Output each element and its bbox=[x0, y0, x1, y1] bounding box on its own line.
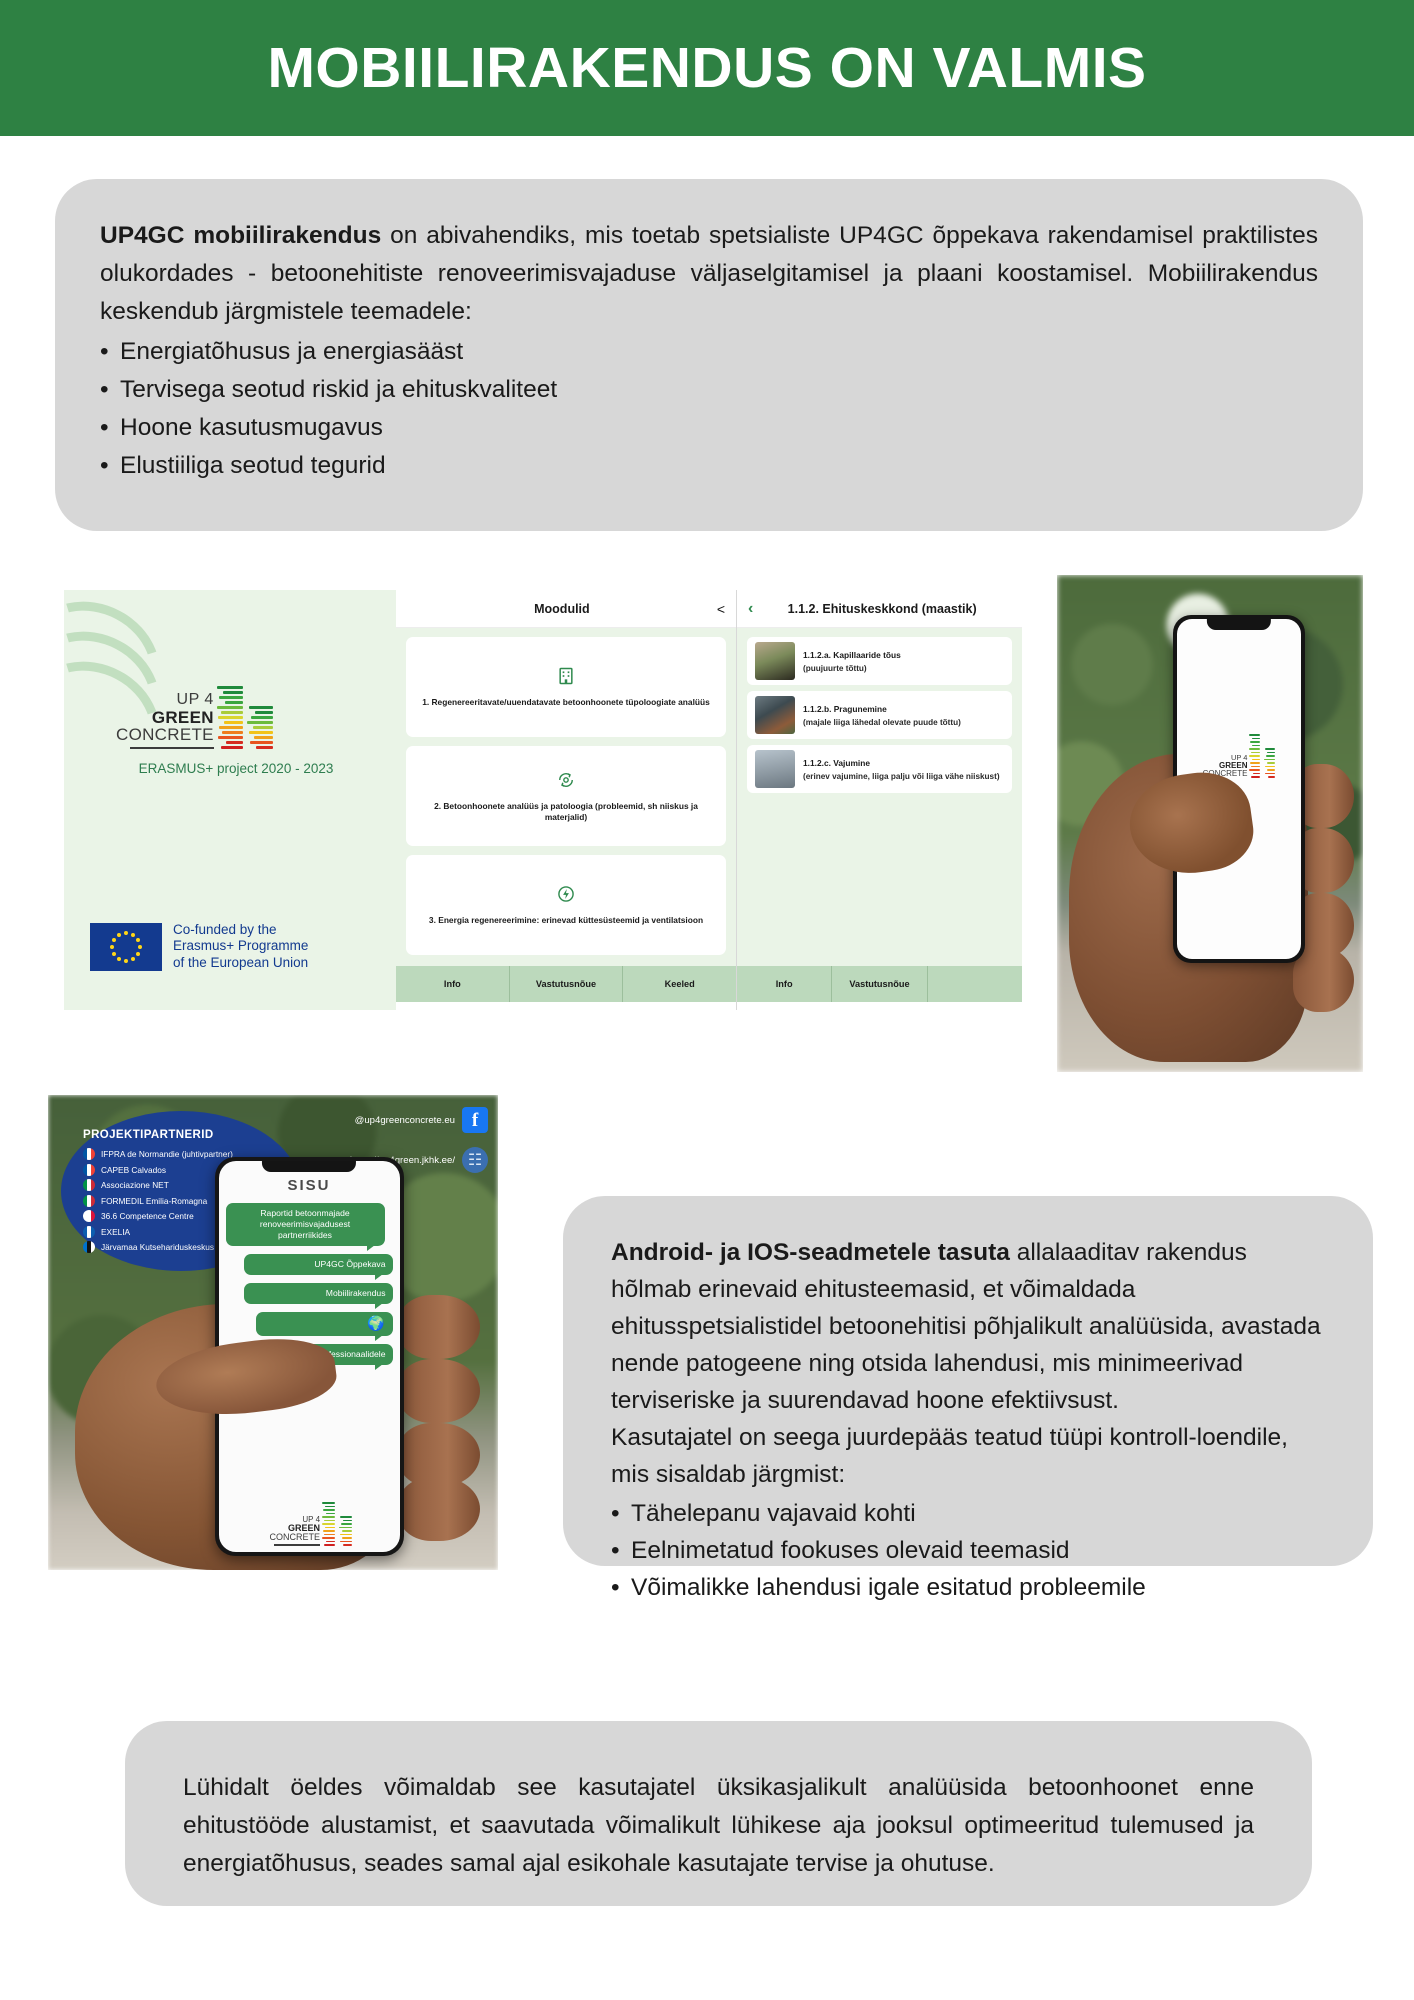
partners-title: PROJEKTIPARTNERID bbox=[83, 1129, 287, 1141]
intro-lead: UP4GC mobiilirakendus bbox=[100, 222, 381, 249]
eu-text-line-1: Co-funded by the bbox=[173, 922, 308, 938]
summary-text: Lühidalt öeldes võimaldab see kasutajate… bbox=[183, 1769, 1254, 1883]
item-title: 1.1.2.c. Vajumine bbox=[803, 758, 1000, 768]
item-thumbnail bbox=[755, 642, 795, 680]
up4gc-logo-small: UP 4 GREEN CONCRETE bbox=[1187, 734, 1291, 778]
app-detail-header: ‹ 1.1.2. Ehituskeskkond (maastik) bbox=[737, 590, 1022, 628]
item-subtitle: (erinev vajumine, liiga palju või liiga … bbox=[803, 772, 1000, 781]
app-modules-title: Moodulid bbox=[407, 602, 717, 616]
nav-item-info[interactable]: Info bbox=[737, 966, 832, 1002]
list-item: Elustiiliga seotud tegurid bbox=[100, 447, 1318, 485]
recycle-gear-icon bbox=[556, 770, 576, 795]
sisu-title: SISU bbox=[226, 1177, 393, 1194]
logo-pane: UP 4 GREEN CONCRETE ERASMUS+ project 202… bbox=[64, 590, 396, 1010]
facebook-icon[interactable]: f bbox=[462, 1107, 488, 1133]
country-flag-icon bbox=[83, 1148, 95, 1160]
country-flag-icon bbox=[83, 1241, 95, 1253]
menu-item-reports[interactable]: Raportid betoonmajade renoveerimisvajadu… bbox=[226, 1203, 385, 1246]
building-icon bbox=[556, 666, 576, 691]
logo-bars-icon bbox=[217, 686, 273, 749]
partner-name: IFPRA de Normandie (juhtivpartner) bbox=[101, 1149, 233, 1159]
app-bottom-nav: Info Vastutusnõue Keeled bbox=[396, 966, 736, 1002]
android-bullet-list: Tähelepanu vajavaid kohti Eelnimetatud f… bbox=[611, 1495, 1325, 1606]
globe-icon[interactable]: ☷ bbox=[462, 1147, 488, 1173]
nav-item-disclaimer[interactable]: Vastutusnõue bbox=[510, 966, 624, 1002]
poster-page: MOBIILIRAKENDUS ON VALMIS UP4GC mobiilir… bbox=[0, 0, 1414, 2000]
partner-name: Associazione NET bbox=[101, 1180, 169, 1190]
module-label: 2. Betoonhoonete analüüs ja patoloogia (… bbox=[416, 801, 716, 822]
item-title: 1.1.2.a. Kapillaaride tõus bbox=[803, 650, 901, 660]
module-card[interactable]: 3. Energia regenereerimine: erinevad küt… bbox=[406, 855, 726, 955]
country-flag-icon bbox=[83, 1164, 95, 1176]
logo-line-3: CONCRETE bbox=[116, 726, 214, 744]
logo-bar-column bbox=[1249, 734, 1260, 778]
phone-notch bbox=[262, 1161, 356, 1172]
intro-panel: UP4GC mobiilirakendus on abivahendiks, m… bbox=[55, 179, 1363, 531]
list-item: Eelnimetatud fookuses olevaid teemasid bbox=[611, 1532, 1325, 1569]
logo-bar-column bbox=[217, 686, 243, 749]
country-flag-icon bbox=[83, 1210, 95, 1222]
menu-item-mobile-app[interactable]: Mobiilirakendus bbox=[244, 1283, 393, 1304]
menu-item-earth-icon[interactable]: 🌍 bbox=[256, 1312, 393, 1336]
partner-name: 36.6 Competence Centre bbox=[101, 1211, 194, 1221]
country-flag-icon bbox=[83, 1195, 95, 1207]
logo-bar-column bbox=[247, 706, 273, 749]
hand-holding-phone-photo: UP 4 GREEN CONCRETE bbox=[1057, 575, 1363, 1072]
social-handle: @up4greenconcrete.eu bbox=[355, 1115, 455, 1126]
eu-funding-text: Co-funded by the Erasmus+ Programme of t… bbox=[173, 922, 308, 971]
android-info-panel: Android- ja IOS-seadmetele tasuta allala… bbox=[563, 1196, 1373, 1566]
share-icon[interactable]: < bbox=[717, 602, 725, 616]
item-subtitle: (majale liiga lähedal olevate puude tõtt… bbox=[803, 718, 961, 727]
module-card[interactable]: 1. Regenereeritavate/uuendatavate betoon… bbox=[406, 637, 726, 737]
eu-text-line-3: of the European Union bbox=[173, 955, 308, 971]
country-flag-icon bbox=[83, 1226, 95, 1238]
app-modules-body: 1. Regenereeritavate/uuendatavate betoon… bbox=[396, 628, 736, 966]
module-label: 1. Regenereeritavate/uuendatavate betoon… bbox=[422, 697, 710, 708]
list-item: Hoone kasutusmugavus bbox=[100, 409, 1318, 447]
partner-name: FORMEDIL Emilia-Romagna bbox=[101, 1196, 207, 1206]
app-modules-screen: Moodulid < 1. Regener bbox=[396, 590, 736, 1010]
intro-paragraph: UP4GC mobiilirakendus on abivahendiks, m… bbox=[100, 217, 1318, 331]
module-label: 3. Energia regenereerimine: erinevad küt… bbox=[429, 915, 703, 926]
logo-bar-column bbox=[1264, 748, 1275, 778]
partner-name: Järvamaa Kutsehariduskeskus bbox=[101, 1242, 214, 1252]
list-item: Energiatõhusus ja energiasääst bbox=[100, 333, 1318, 371]
app-screenshot-strip: UP 4 GREEN CONCRETE ERASMUS+ project 202… bbox=[64, 590, 1022, 1010]
nav-item-disclaimer[interactable]: Vastutusnõue bbox=[832, 966, 927, 1002]
up4gc-logo-small: UP 4 GREEN CONCRETE bbox=[233, 1502, 389, 1546]
app-modules-header: Moodulid < bbox=[396, 590, 736, 628]
android-paragraph-2: Kasutajatel on seega juurdepääs teatud t… bbox=[611, 1419, 1325, 1493]
list-item[interactable]: 1.1.2.a. Kapillaaride tõus (puujuurte tõ… bbox=[747, 637, 1012, 685]
android-lead: Android- ja IOS-seadmetele tasuta bbox=[611, 1239, 1010, 1266]
list-item[interactable]: 1.1.2.c. Vajumine (erinev vajumine, liig… bbox=[747, 745, 1012, 793]
item-subtitle: (puujuurte tõttu) bbox=[803, 664, 901, 673]
item-thumbnail bbox=[755, 696, 795, 734]
fingers-group bbox=[399, 1295, 480, 1542]
list-item: Võimalikke lahendusi igale esitatud prob… bbox=[611, 1569, 1325, 1606]
list-item: Tähelepanu vajavaid kohti bbox=[611, 1495, 1325, 1532]
partner-name: CAPEB Calvados bbox=[101, 1165, 166, 1175]
module-card[interactable]: 2. Betoonhoonete analüüs ja patoloogia (… bbox=[406, 746, 726, 846]
eu-funding-block: Co-funded by the Erasmus+ Programme of t… bbox=[90, 922, 308, 971]
page-title: MOBIILIRAKENDUS ON VALMIS bbox=[267, 35, 1146, 101]
eu-flag-icon bbox=[90, 923, 162, 971]
list-item: Tervisega seotud riskid ja ehituskvalite… bbox=[100, 371, 1318, 409]
eu-text-line-2: Erasmus+ Programme bbox=[173, 938, 308, 954]
partner-name: EXELIA bbox=[101, 1227, 130, 1237]
logo-underline bbox=[130, 747, 214, 750]
logo-bar-column bbox=[322, 1502, 335, 1546]
nav-item-languages[interactable]: Keeled bbox=[623, 966, 736, 1002]
nav-item-info[interactable]: Info bbox=[396, 966, 510, 1002]
country-flag-icon bbox=[83, 1179, 95, 1191]
item-thumbnail bbox=[755, 750, 795, 788]
logo-line-3: CONCRETE bbox=[270, 1533, 321, 1542]
logo-line-2: GREEN bbox=[116, 709, 214, 727]
partners-sisu-photo: PROJEKTIPARTNERID IFPRA de Normandie (ju… bbox=[48, 1095, 498, 1570]
nav-item-empty[interactable] bbox=[928, 966, 1022, 1002]
energy-bolt-icon bbox=[556, 884, 576, 909]
item-title: 1.1.2.b. Pragunemine bbox=[803, 704, 961, 714]
up4gc-logo: UP 4 GREEN CONCRETE ERASMUS+ project 202… bbox=[116, 686, 356, 776]
intro-bullet-list: Energiatõhusus ja energiasääst Tervisega… bbox=[100, 333, 1318, 485]
android-paragraph: Android- ja IOS-seadmetele tasuta allala… bbox=[611, 1234, 1325, 1419]
list-item[interactable]: 1.1.2.b. Pragunemine (majale liiga lähed… bbox=[747, 691, 1012, 739]
app-detail-title: 1.1.2. Ehituskeskkond (maastik) bbox=[753, 602, 1011, 616]
page-header-banner: MOBIILIRAKENDUS ON VALMIS bbox=[0, 0, 1414, 136]
logo-line-1: UP 4 bbox=[116, 692, 214, 708]
app-bottom-nav: Info Vastutusnõue bbox=[737, 966, 1022, 1002]
summary-panel: Lühidalt öeldes võimaldab see kasutajate… bbox=[125, 1721, 1312, 1906]
menu-item-curriculum[interactable]: UP4GC Õppekava bbox=[244, 1254, 393, 1275]
app-detail-body: 1.1.2.a. Kapillaaride tõus (puujuurte tõ… bbox=[737, 628, 1022, 966]
erasmus-project-line: ERASMUS+ project 2020 - 2023 bbox=[116, 761, 356, 776]
phone-notch bbox=[1207, 619, 1271, 630]
logo-bar-column bbox=[339, 1516, 352, 1546]
app-detail-screen: ‹ 1.1.2. Ehituskeskkond (maastik) 1.1.2.… bbox=[737, 590, 1022, 1010]
